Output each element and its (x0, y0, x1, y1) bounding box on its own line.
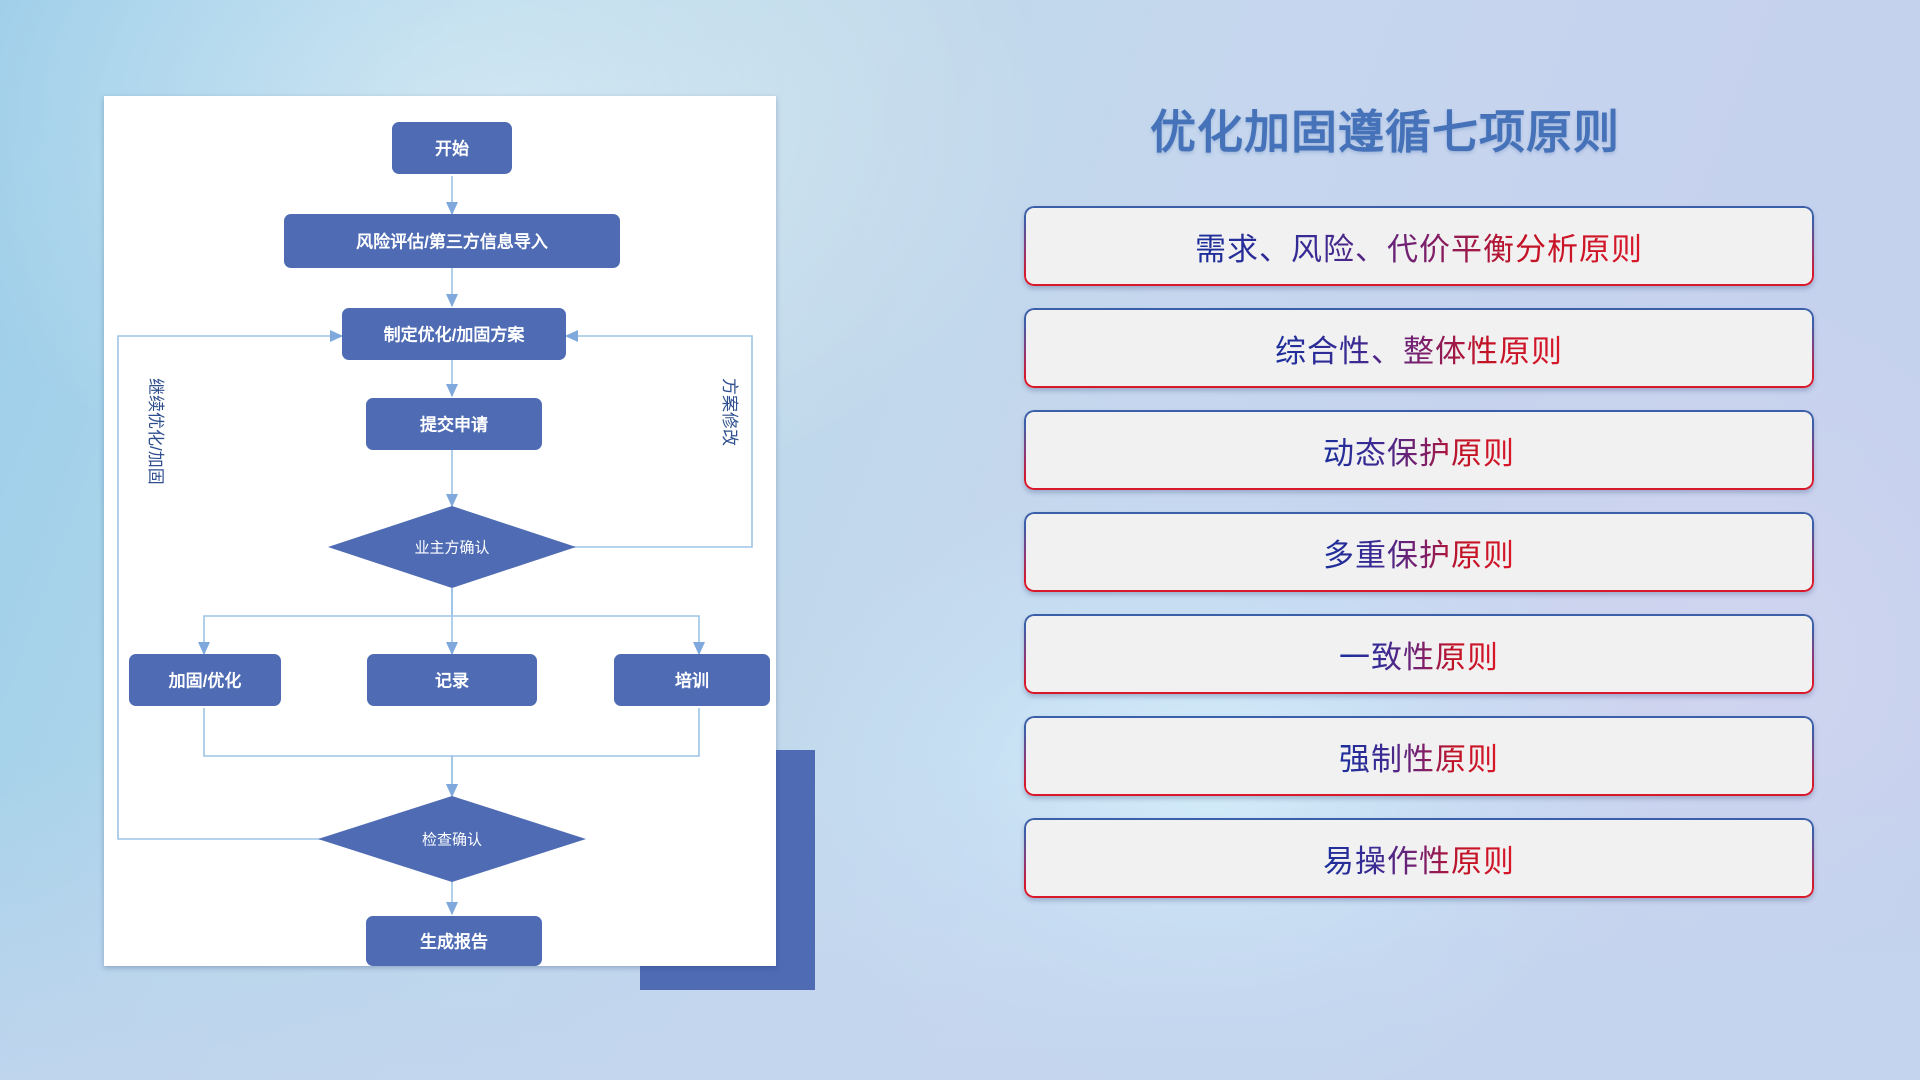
principle-card[interactable]: 一致性原则 (1024, 614, 1814, 694)
principle-card[interactable]: 易操作性原则 (1024, 818, 1814, 898)
flow-node-owner-confirm-label: 业主方确认 (414, 540, 489, 557)
principle-label: 易操作性原则 (1323, 836, 1515, 881)
flow-node-report-label: 生成报告 (420, 932, 488, 952)
flow-node-submit[interactable]: 提交申请 (366, 398, 542, 450)
principle-card[interactable]: 综合性、整体性原则 (1024, 308, 1814, 388)
page-title: 优化加固遵循七项原则 (1000, 96, 1840, 162)
flow-node-check-confirm-label: 检查确认 (422, 832, 482, 849)
flow-node-reinforce-label: 加固/优化 (168, 671, 242, 691)
flow-node-owner-confirm[interactable]: 业主方确认 (328, 506, 576, 588)
principle-label: 综合性、整体性原则 (1275, 326, 1563, 371)
principle-card[interactable]: 强制性原则 (1024, 716, 1814, 796)
flow-node-report[interactable]: 生成报告 (366, 916, 542, 966)
principle-card[interactable]: 动态保护原则 (1024, 410, 1814, 490)
principle-card[interactable]: 多重保护原则 (1024, 512, 1814, 592)
principle-label: 一致性原则 (1339, 632, 1499, 677)
flow-node-plan-label: 制定优化/加固方案 (384, 325, 526, 345)
flow-node-start[interactable]: 开始 (392, 122, 512, 174)
flow-node-record[interactable]: 记录 (367, 654, 537, 706)
principle-label: 需求、风险、代价平衡分析原则 (1195, 224, 1643, 269)
flow-node-assess-label: 风险评估/第三方信息导入 (356, 232, 548, 252)
flow-node-submit-label: 提交申请 (420, 415, 488, 435)
principle-label: 强制性原则 (1339, 734, 1499, 779)
principles-list: 需求、风险、代价平衡分析原则 综合性、整体性原则 动态保护原则 多重保护原则 一… (1000, 206, 1840, 898)
flow-connector-right-loop (532, 336, 752, 547)
flow-node-start-label: 开始 (435, 139, 469, 159)
flow-node-check-confirm[interactable]: 检查确认 (318, 796, 586, 882)
flow-node-reinforce[interactable]: 加固/优化 (129, 654, 281, 706)
flowchart-card: 开始 风险评估/第三方信息导入 制定优化/加固方案 提交申请 业主方确认 加固/… (104, 96, 776, 966)
flow-node-record-label: 记录 (435, 672, 469, 691)
flow-edge-label-left-loop: 继续优化/加固 (146, 378, 165, 485)
flow-node-training[interactable]: 培训 (614, 654, 770, 706)
principles-panel: 优化加固遵循七项原则 需求、风险、代价平衡分析原则 综合性、整体性原则 动态保护… (1000, 96, 1840, 996)
flowchart-diagram: 开始 风险评估/第三方信息导入 制定优化/加固方案 提交申请 业主方确认 加固/… (104, 96, 776, 966)
principle-card[interactable]: 需求、风险、代价平衡分析原则 (1024, 206, 1814, 286)
principle-label: 多重保护原则 (1323, 530, 1515, 575)
flow-edge-label-right-loop: 方案修改 (720, 378, 739, 446)
flow-node-assess[interactable]: 风险评估/第三方信息导入 (284, 214, 620, 268)
flow-node-plan[interactable]: 制定优化/加固方案 (342, 308, 566, 360)
principle-label: 动态保护原则 (1323, 428, 1515, 473)
flow-node-training-label: 培训 (675, 671, 709, 691)
